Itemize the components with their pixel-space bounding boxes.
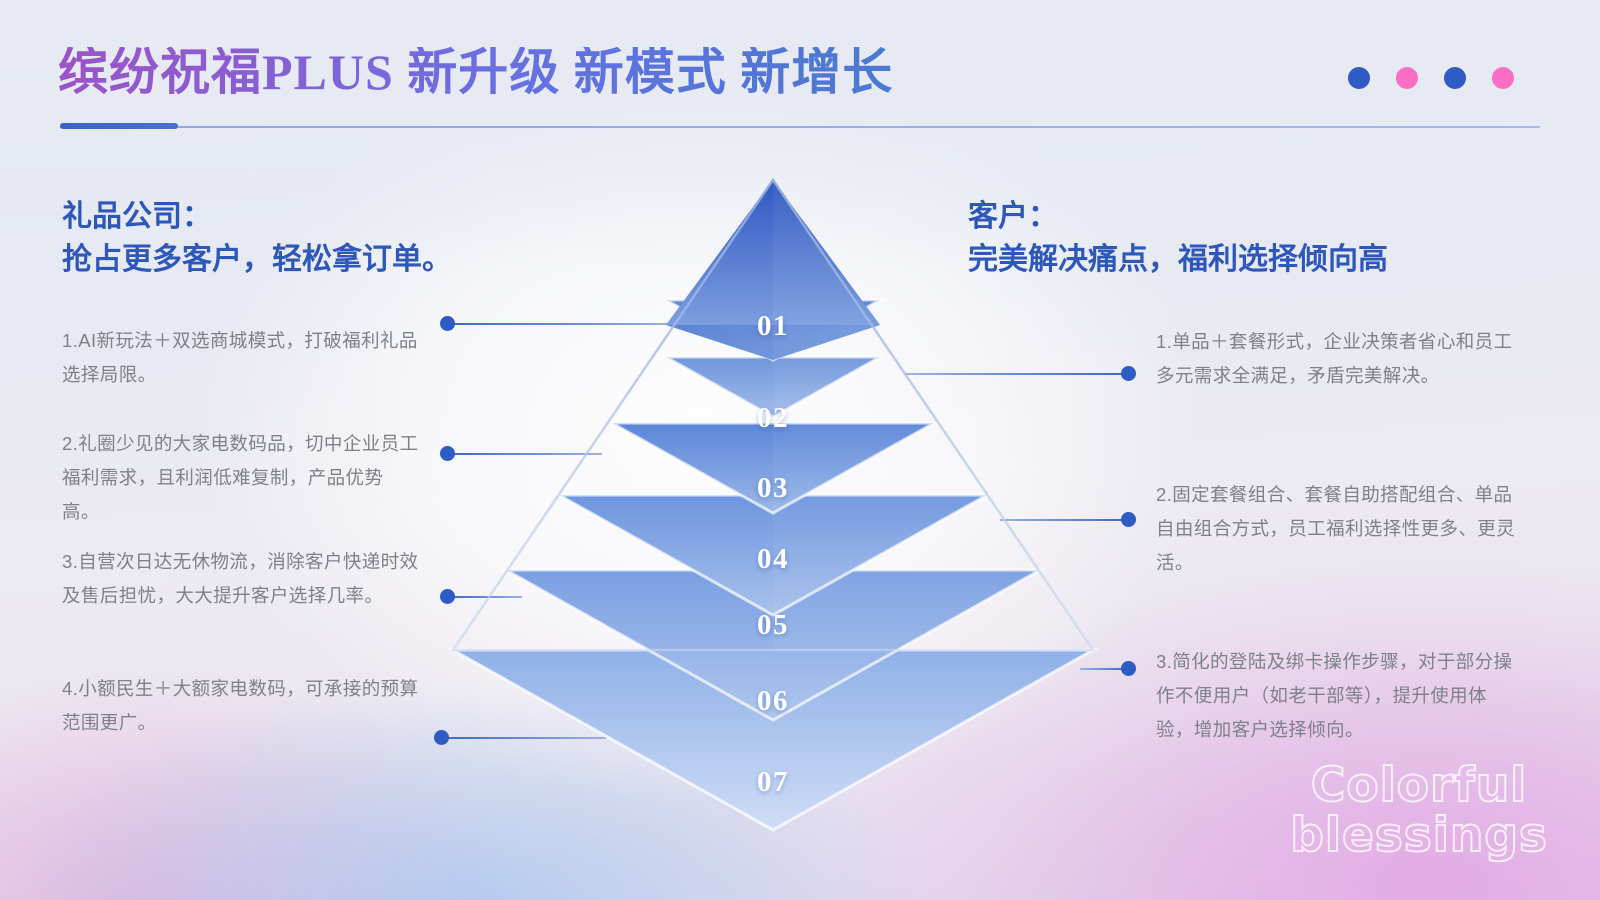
watermark-text: Colorful blessings — [1290, 761, 1548, 863]
right-item-3: 3.简化的登陆及绑卡操作步骤，对于部分操作不便用户（如老干部等），提升使用体验，… — [1156, 645, 1518, 747]
header-dot-group — [1348, 67, 1514, 89]
watermark-line-1: Colorful — [1290, 761, 1548, 812]
left-item-4: 4.小额民生＋大额家电数码，可承接的预算范围更广。 — [62, 672, 420, 740]
page-title: 缤纷祝福PLUS 新升级 新模式 新增长 — [58, 47, 893, 97]
pyramid-label-04: 04 — [757, 543, 789, 576]
slide-canvas: 缤纷祝福PLUS 新升级 新模式 新增长 礼品公司： 抢占更多客户，轻松拿订单。… — [0, 0, 1600, 900]
left-item-1: 1.AI新玩法＋双选商城模式，打破福利礼品选择局限。 — [62, 324, 420, 392]
pyramid-label-05: 05 — [757, 609, 789, 642]
pyramid-label-03: 03 — [757, 472, 789, 505]
pyramid-label-07: 07 — [757, 766, 789, 799]
right-item-1: 1.单品＋套餐形式，企业决策者省心和员工多元需求全满足，矛盾完美解决。 — [1156, 325, 1518, 393]
left-item-3: 3.自营次日达无休物流，消除客户快递时效及售后担忧，大大提升客户选择几率。 — [62, 545, 420, 613]
title-underline-accent — [60, 123, 178, 129]
pyramid-label-02: 02 — [757, 402, 789, 435]
right-item-2: 2.固定套餐组合、套餐自助搭配组合、单品自由组合方式，员工福利选择性更多、更灵活… — [1156, 478, 1518, 580]
title-underline-thin — [60, 126, 1540, 128]
left-heading-line1: 礼品公司： — [62, 200, 212, 233]
header-dot-1-icon — [1348, 67, 1370, 89]
header-dot-2-icon — [1396, 67, 1418, 89]
header-dot-4-icon — [1492, 67, 1514, 89]
pyramid-diagram: 01 02 03 04 05 06 07 — [380, 150, 1180, 870]
pyramid-label-01: 01 — [757, 310, 789, 343]
header-dot-3-icon — [1444, 67, 1466, 89]
pyramid-label-06: 06 — [757, 685, 789, 718]
left-item-2: 2.礼圈少见的大家电数码品，切中企业员工福利需求，且利润低难复制，产品优势高。 — [62, 427, 420, 529]
watermark-line-2: blessings — [1290, 811, 1548, 862]
